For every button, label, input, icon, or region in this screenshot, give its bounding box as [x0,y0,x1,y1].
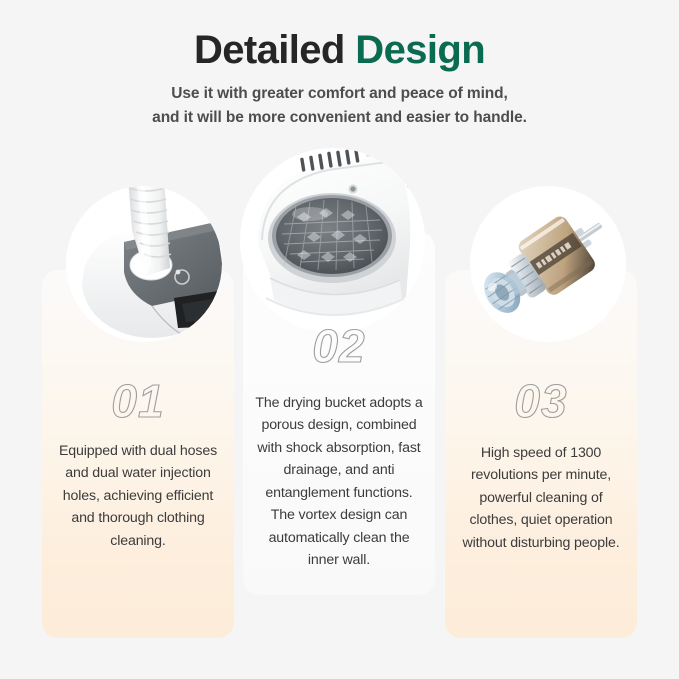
card-number-01: 01 [42,378,234,424]
dual-hose-water-inlet-photo [66,186,222,342]
card-number-02: 02 [243,323,435,369]
feature-card-list: 01 02 03 Equipped with dual hoses and du… [0,0,679,679]
card-number-03: 03 [445,378,637,424]
high-speed-motor-photo [470,186,626,342]
card-text-01: Equipped with dual hoses and dual water … [51,440,225,552]
infographic-page: Detailed Design Use it with greater comf… [0,0,679,679]
card-text-02: The drying bucket adopts a porous design… [252,392,426,572]
porous-drying-bucket-photo [240,148,425,333]
card-text-03: High speed of 1300 revolutions per minut… [454,442,628,554]
